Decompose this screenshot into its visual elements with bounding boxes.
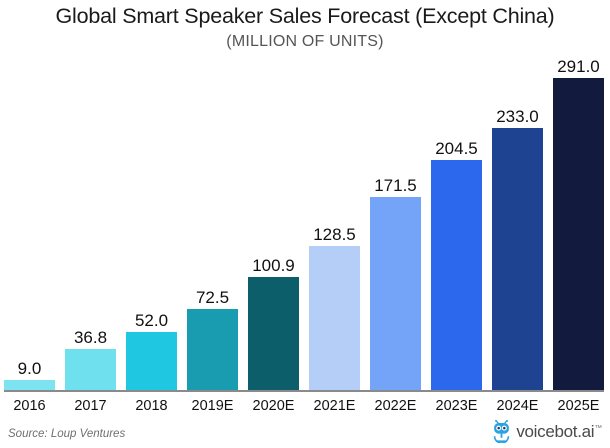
bar-value-label: 36.8 <box>74 329 107 346</box>
bar-group[interactable]: 52.0 <box>126 58 177 390</box>
bar-group[interactable]: 128.5 <box>309 58 360 390</box>
bar-group[interactable]: 291.0 <box>553 58 604 390</box>
x-axis-tick-label: 2018 <box>126 394 177 420</box>
bar-value-label: 9.0 <box>18 360 42 377</box>
bar-value-label: 291.0 <box>557 58 600 75</box>
x-axis-labels: 2016201720182019E2020E2021E2022E2023E202… <box>4 394 604 420</box>
x-axis-tick-label: 2025E <box>553 394 604 420</box>
bar[interactable] <box>492 128 543 390</box>
source-note: Source: Loup Ventures <box>8 428 125 440</box>
bar-value-label: 128.5 <box>313 226 356 243</box>
bar-value-label: 72.5 <box>196 289 229 306</box>
bar-series: 9.036.852.072.5100.9128.5171.5204.5233.0… <box>4 58 604 390</box>
bar[interactable] <box>187 309 238 390</box>
bar[interactable] <box>4 380 55 390</box>
x-axis-tick-label: 2024E <box>492 394 543 420</box>
bar-group[interactable]: 36.8 <box>65 58 116 390</box>
x-axis-tick-label: 2020E <box>248 394 299 420</box>
bar[interactable] <box>65 349 116 390</box>
bar-value-label: 233.0 <box>496 108 539 125</box>
x-axis-line <box>4 390 604 392</box>
bar-group[interactable]: 233.0 <box>492 58 543 390</box>
bar[interactable] <box>126 332 177 390</box>
voicebot-logo[interactable]: voicebot.ai™ <box>491 420 602 443</box>
chart-container: Global Smart Speaker Sales Forecast (Exc… <box>0 0 610 448</box>
bar-group[interactable]: 171.5 <box>370 58 421 390</box>
voicebot-logo-text: voicebot.ai™ <box>516 423 602 440</box>
bar-group[interactable]: 9.0 <box>4 58 55 390</box>
x-axis-tick-label: 2016 <box>4 394 55 420</box>
bar-value-label: 204.5 <box>435 140 478 157</box>
x-axis-tick-label: 2021E <box>309 394 360 420</box>
trademark-symbol: ™ <box>594 423 602 432</box>
bar-value-label: 100.9 <box>252 257 295 274</box>
x-axis-tick-label: 2017 <box>65 394 116 420</box>
bar-value-label: 171.5 <box>374 177 417 194</box>
chart-title: Global Smart Speaker Sales Forecast (Exc… <box>0 4 610 29</box>
bar[interactable] <box>431 160 482 390</box>
voicebot-robot-icon <box>491 420 512 443</box>
bar-group[interactable]: 72.5 <box>187 58 238 390</box>
bar[interactable] <box>309 246 360 390</box>
bar[interactable] <box>553 78 604 390</box>
x-axis-tick-label: 2019E <box>187 394 238 420</box>
bar[interactable] <box>370 197 421 390</box>
x-axis-tick-label: 2022E <box>370 394 421 420</box>
chart-subtitle: (MILLION OF UNITS) <box>0 33 610 51</box>
bar[interactable] <box>248 277 299 390</box>
x-axis-tick-label: 2023E <box>431 394 482 420</box>
bar-value-label: 52.0 <box>135 312 168 329</box>
bar-group[interactable]: 204.5 <box>431 58 482 390</box>
bar-group[interactable]: 100.9 <box>248 58 299 390</box>
